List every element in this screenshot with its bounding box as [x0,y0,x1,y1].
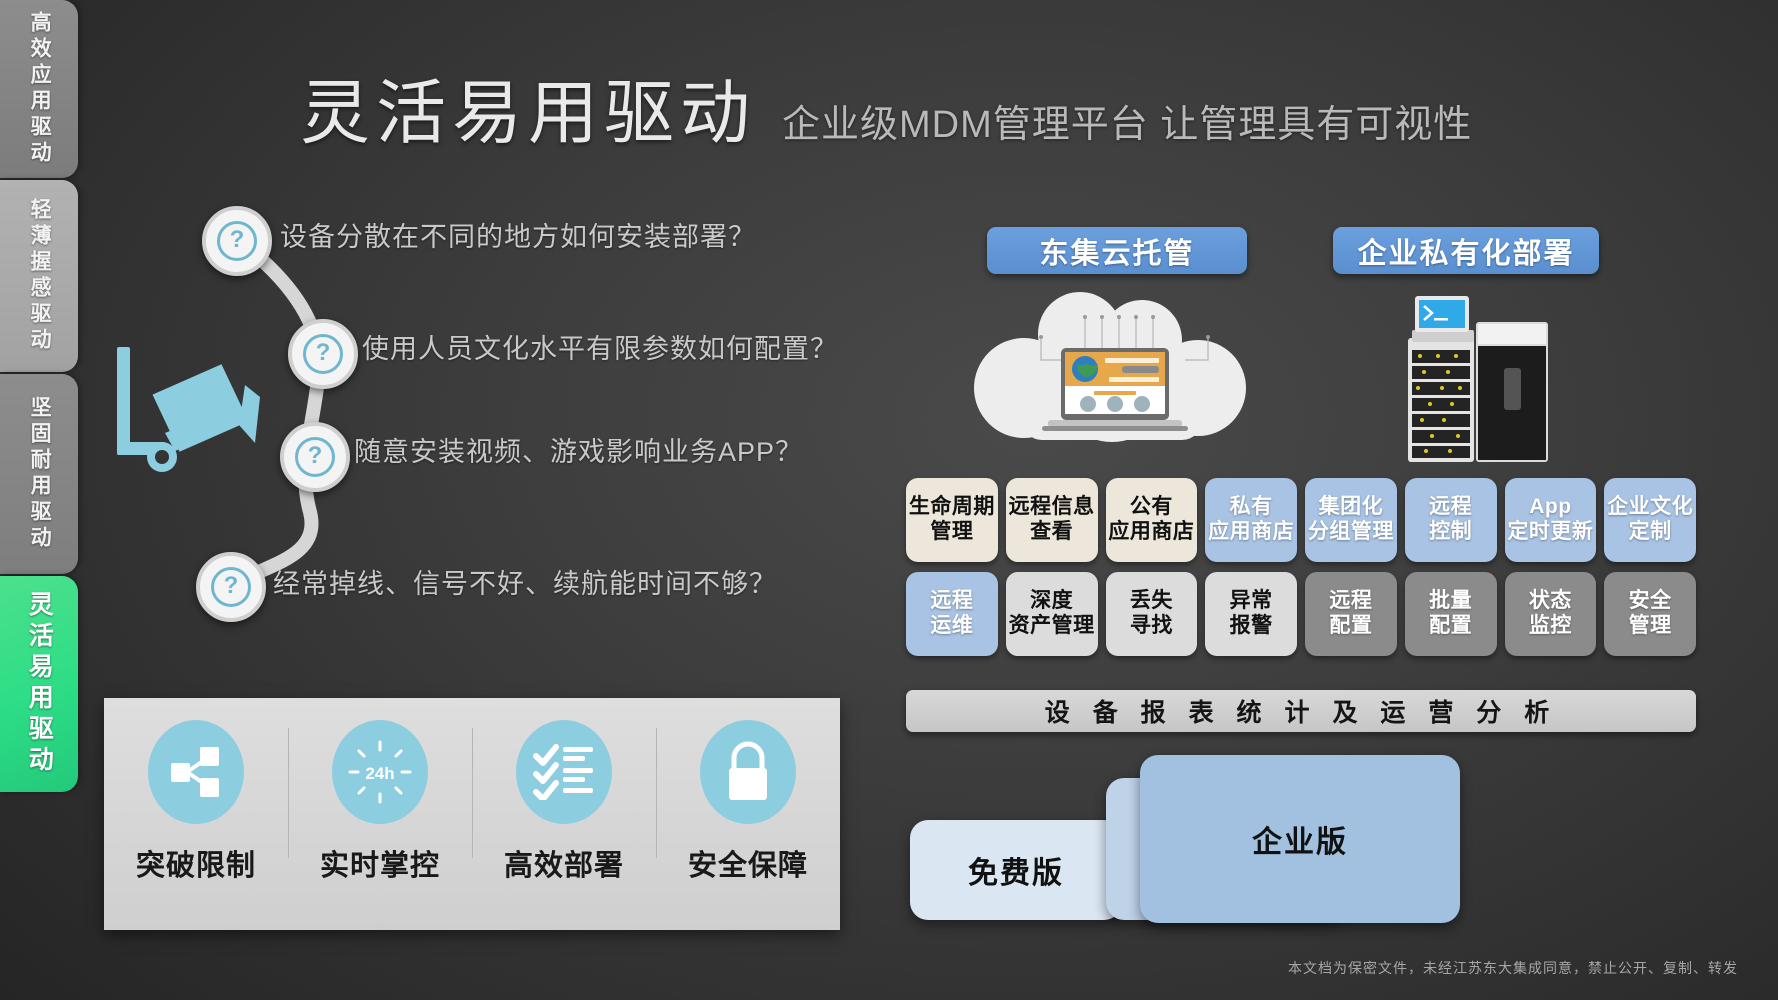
cell-line: 控制 [1429,520,1472,545]
cell-line: 配置 [1329,614,1372,639]
feature-item-3[interactable]: 安全保障 [656,698,840,930]
question-text-1: 设备分散在不同的地方如何安装部署？ [280,215,756,254]
sidebar-item-label: 轻薄握感驱动 [28,198,50,354]
capability-cell[interactable]: 公有 应用商店 [1106,478,1198,562]
features-panel: 突破限制 24 [104,698,840,930]
capability-cell[interactable]: 私有 应用商店 [1205,478,1297,562]
feature-label: 安全保障 [688,842,808,884]
feature-label: 高效部署 [504,842,624,884]
capability-cell[interactable]: 异常 报警 [1205,572,1297,656]
cell-line: App [1529,495,1571,520]
sidebar-item-2[interactable]: 坚固耐用驱动 [0,374,78,574]
share-nodes-icon [148,720,244,824]
question-mark-icon: ? [217,221,257,261]
page-title: 灵活易用驱动 企业级MDM管理平台 让管理具有可视性 [300,78,1472,148]
question-marker-2[interactable]: ? [288,319,358,389]
cell-line: 应用商店 [1108,520,1194,545]
report-analysis-bar[interactable]: 设 备 报 表 统 计 及 运 营 分 析 [906,690,1696,732]
capability-cell[interactable]: App 定时更新 [1505,478,1597,562]
cell-line: 分组管理 [1308,520,1394,545]
report-bar-label: 设 备 报 表 统 计 及 运 营 分 析 [1045,693,1557,729]
capability-cell[interactable]: 远程 控制 [1405,478,1497,562]
confidential-footnote: 本文档为保密文件，未经江苏东大集成同意，禁止公开、复制、转发 [1288,958,1738,978]
cell-line: 生命周期 [909,495,995,520]
badge-label: 东集云托管 [1039,230,1194,272]
capability-cell[interactable]: 安全 管理 [1604,572,1696,656]
lock-icon [700,720,796,824]
question-mark-icon: ? [295,437,335,477]
question-text-2: 使用人员文化水平有限参数如何配置？ [362,327,838,366]
title-main: 灵活易用驱动 [300,78,756,148]
cell-line: 私有 [1230,495,1273,520]
question-marker-3[interactable]: ? [280,422,350,492]
cell-line: 远程信息 [1009,495,1095,520]
server-rack-illustration [1398,290,1553,465]
edition-label: 免费版 [968,848,1064,892]
capability-row-1: 生命周期 管理 远程信息 查看 公有 应用商店 私有 应用商店 集团化 分组管理… [906,478,1696,562]
capability-cell[interactable]: 集团化 分组管理 [1305,478,1397,562]
clock-icon-text: 24h [365,764,394,783]
cell-line: 状态 [1529,589,1572,614]
sidebar-item-1[interactable]: 轻薄握感驱动 [0,180,78,372]
title-subtitle: 企业级MDM管理平台 让管理具有可视性 [782,106,1472,144]
cell-line: 企业文化 [1607,495,1693,520]
capability-cell[interactable]: 批量 配置 [1405,572,1497,656]
question-text-4: 经常掉线、信号不好、续航能时间不够？ [273,562,777,601]
feature-label: 实时掌控 [320,842,440,884]
sidebar: 高效应用驱动 轻薄握感驱动 坚固耐用驱动 灵活易用驱动 [0,0,78,1000]
sidebar-item-3-active[interactable]: 灵活易用驱动 [0,576,78,792]
cell-line: 资产管理 [1009,614,1095,639]
cell-line: 深度 [1030,589,1073,614]
badge-cloud-hosting[interactable]: 东集云托管 [987,227,1247,274]
cell-line: 丢失 [1130,589,1173,614]
capability-cell[interactable]: 远程 配置 [1305,572,1397,656]
edition-label: 企业版 [1252,817,1348,861]
capability-cell[interactable]: 远程信息 查看 [1006,478,1098,562]
edition-card-free[interactable]: 免费版 [910,820,1122,920]
capability-grid: 生命周期 管理 远程信息 查看 公有 应用商店 私有 应用商店 集团化 分组管理… [906,478,1696,656]
sidebar-item-label: 高效应用驱动 [28,11,50,167]
clock-24h-icon: 24h [332,720,428,824]
question-marker-1[interactable]: ? [202,206,272,276]
cell-line: 集团化 [1319,495,1384,520]
cell-line: 查看 [1030,520,1073,545]
cell-line: 管理 [930,520,973,545]
cell-line: 配置 [1429,614,1472,639]
sidebar-item-0[interactable]: 高效应用驱动 [0,0,78,178]
capability-cell[interactable]: 丢失 寻找 [1106,572,1198,656]
cell-line: 远程 [1429,495,1472,520]
cell-line: 远程 [930,589,973,614]
cell-line: 监控 [1529,614,1572,639]
feature-item-1[interactable]: 24h 实时掌控 [288,698,472,930]
cell-line: 运维 [930,614,973,639]
cloud-laptop-illustration [972,292,1252,462]
cell-line: 远程 [1329,589,1372,614]
capability-row-2: 远程 运维 深度 资产管理 丢失 寻找 异常 报警 远程 配置 批量 配置 [906,572,1696,656]
question-mark-icon: ? [303,334,343,374]
cell-line: 定时更新 [1507,520,1593,545]
feature-item-0[interactable]: 突破限制 [104,698,288,930]
cell-line: 异常 [1230,589,1273,614]
capability-cell[interactable]: 生命周期 管理 [906,478,998,562]
cell-line: 安全 [1629,589,1672,614]
question-marker-4[interactable]: ? [196,552,266,622]
feature-item-2[interactable]: 高效部署 [472,698,656,930]
capability-cell[interactable]: 深度 资产管理 [1006,572,1098,656]
cell-line: 应用商店 [1208,520,1294,545]
cell-line: 管理 [1629,614,1672,639]
cell-line: 公有 [1130,495,1173,520]
question-mark-icon: ? [211,567,251,607]
question-chain: ? 设备分散在不同的地方如何安装部署？ ? 使用人员文化水平有限参数如何配置？ … [180,180,820,640]
capability-cell[interactable]: 远程 运维 [906,572,998,656]
sidebar-item-label: 灵活易用驱动 [26,591,53,777]
cell-line: 定制 [1629,520,1672,545]
sidebar-item-label: 坚固耐用驱动 [28,396,50,552]
capability-cell[interactable]: 状态 监控 [1505,572,1597,656]
cell-line: 批量 [1429,589,1472,614]
badge-label: 企业私有化部署 [1357,230,1574,272]
checklist-icon [516,720,612,824]
capability-cell[interactable]: 企业文化 定制 [1604,478,1696,562]
cell-line: 寻找 [1130,614,1173,639]
cell-line: 报警 [1230,614,1273,639]
edition-card-enterprise[interactable]: 企业版 [1140,755,1460,923]
slide-canvas: 高效应用驱动 轻薄握感驱动 坚固耐用驱动 灵活易用驱动 灵活易用驱动 企业级MD… [0,0,1778,1000]
question-text-3: 随意安装视频、游戏影响业务APP？ [354,430,803,469]
feature-label: 突破限制 [136,842,256,884]
badge-private-deployment[interactable]: 企业私有化部署 [1333,227,1599,274]
